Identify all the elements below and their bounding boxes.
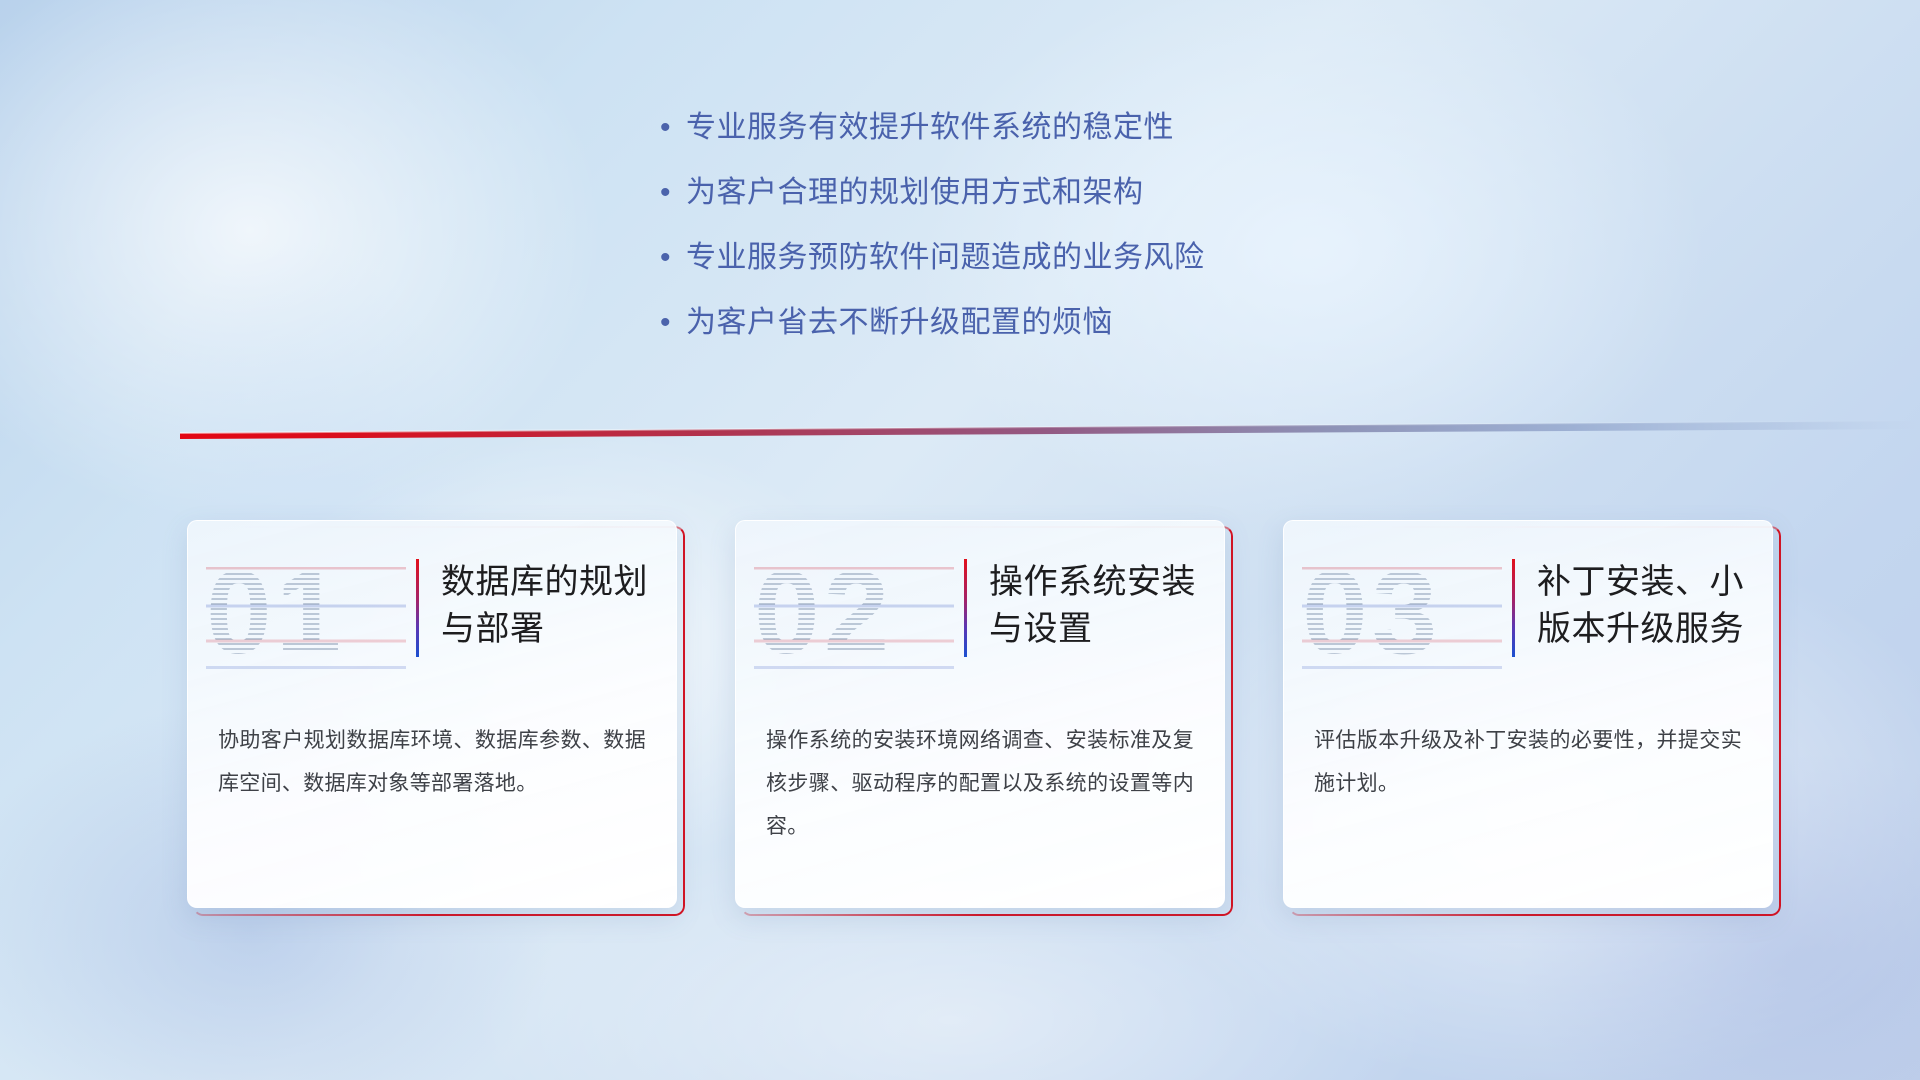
bullet-marker-icon: • bbox=[660, 173, 686, 213]
service-card-02[interactable]: 02 操作系统安装与设置 操作系统的安装环境网络调查、安装标准及复核步骤、驱动程… bbox=[735, 520, 1223, 906]
card-body-text: 评估版本升级及补丁安装的必要性，并提交实施计划。 bbox=[1314, 719, 1742, 805]
card-header: 操作系统安装与设置 bbox=[964, 559, 1204, 657]
service-card-03[interactable]: 03 补丁安装、小版本升级服务 评估版本升级及补丁安装的必要性，并提交实施计划。 bbox=[1283, 520, 1771, 906]
card-title-rule bbox=[1512, 559, 1515, 657]
card-title: 操作系统安装与设置 bbox=[989, 559, 1204, 653]
service-card-01[interactable]: 01 数据库的规划与部署 协助客户规划数据库环境、数据库参数、数据库空间、数据库… bbox=[187, 520, 675, 906]
bullet-marker-icon: • bbox=[660, 108, 686, 148]
card-title-rule bbox=[416, 559, 419, 657]
list-item: • 为客户省去不断升级配置的烦恼 bbox=[660, 303, 1440, 368]
bullet-text: 为客户合理的规划使用方式和架构 bbox=[686, 173, 1144, 213]
list-item: • 为客户合理的规划使用方式和架构 bbox=[660, 173, 1440, 238]
card-panel: 03 补丁安装、小版本升级服务 评估版本升级及补丁安装的必要性，并提交实施计划。 bbox=[1283, 520, 1773, 908]
card-body-text: 操作系统的安装环境网络调查、安装标准及复核步骤、驱动程序的配置以及系统的设置等内… bbox=[766, 719, 1194, 848]
service-cards-row: 01 数据库的规划与部署 协助客户规划数据库环境、数据库参数、数据库空间、数据库… bbox=[187, 520, 1767, 920]
card-number-watermark: 02 bbox=[754, 543, 954, 683]
benefits-bullet-list: • 专业服务有效提升软件系统的稳定性 • 为客户合理的规划使用方式和架构 • 专… bbox=[660, 108, 1440, 368]
card-number-watermark: 01 bbox=[206, 543, 406, 683]
bullet-text: 专业服务预防软件问题造成的业务风险 bbox=[686, 238, 1205, 278]
slide-canvas: • 专业服务有效提升软件系统的稳定性 • 为客户合理的规划使用方式和架构 • 专… bbox=[0, 0, 1920, 1080]
bullet-marker-icon: • bbox=[660, 303, 686, 343]
list-item: • 专业服务预防软件问题造成的业务风险 bbox=[660, 238, 1440, 303]
bullet-marker-icon: • bbox=[660, 238, 686, 278]
bullet-text: 专业服务有效提升软件系统的稳定性 bbox=[686, 108, 1174, 148]
card-title-rule bbox=[964, 559, 967, 657]
card-title: 补丁安装、小版本升级服务 bbox=[1537, 559, 1752, 653]
card-header: 补丁安装、小版本升级服务 bbox=[1512, 559, 1752, 657]
bullet-text: 为客户省去不断升级配置的烦恼 bbox=[686, 303, 1113, 343]
card-panel: 02 操作系统安装与设置 操作系统的安装环境网络调查、安装标准及复核步骤、驱动程… bbox=[735, 520, 1225, 908]
card-panel: 01 数据库的规划与部署 协助客户规划数据库环境、数据库参数、数据库空间、数据库… bbox=[187, 520, 677, 908]
card-header: 数据库的规划与部署 bbox=[416, 559, 656, 657]
section-divider bbox=[180, 415, 1920, 441]
card-title: 数据库的规划与部署 bbox=[441, 559, 656, 653]
list-item: • 专业服务有效提升软件系统的稳定性 bbox=[660, 108, 1440, 173]
card-number-watermark: 03 bbox=[1302, 543, 1502, 683]
section-divider-shape bbox=[180, 415, 1920, 441]
card-body-text: 协助客户规划数据库环境、数据库参数、数据库空间、数据库对象等部署落地。 bbox=[218, 719, 646, 805]
